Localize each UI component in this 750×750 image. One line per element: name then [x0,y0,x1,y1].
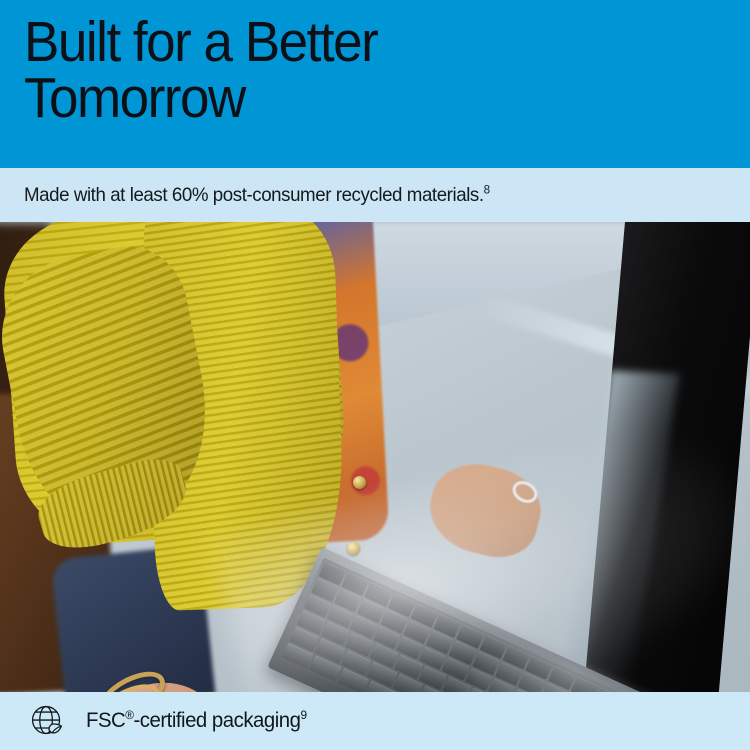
subtitle-band: Made with at least 60% post-consumer rec… [0,168,750,222]
cardigan-button-top [353,476,366,489]
hero-band: Built for a Better Tomorrow [0,0,750,168]
fsc-banner: FSC®-certified packaging9 [0,692,750,750]
globe-leaf-icon [28,702,66,740]
subtitle-row: Made with at least 60% post-consumer rec… [24,184,490,207]
product-photo [0,222,750,692]
page-title: Built for a Better Tomorrow [24,14,677,127]
fsc-label: FSC®-certified packaging9 [86,709,307,733]
subtitle-footnote-marker: 8 [484,182,490,196]
promo-banner-page: Built for a Better Tomorrow Made with at… [0,0,750,750]
fsc-text-after: -certified packaging [133,709,300,732]
fsc-footnote-marker: 9 [300,708,306,722]
fsc-text-before: FSC [86,709,125,732]
registered-mark: ® [125,708,133,722]
subtitle-text: Made with at least 60% post-consumer rec… [24,184,484,206]
